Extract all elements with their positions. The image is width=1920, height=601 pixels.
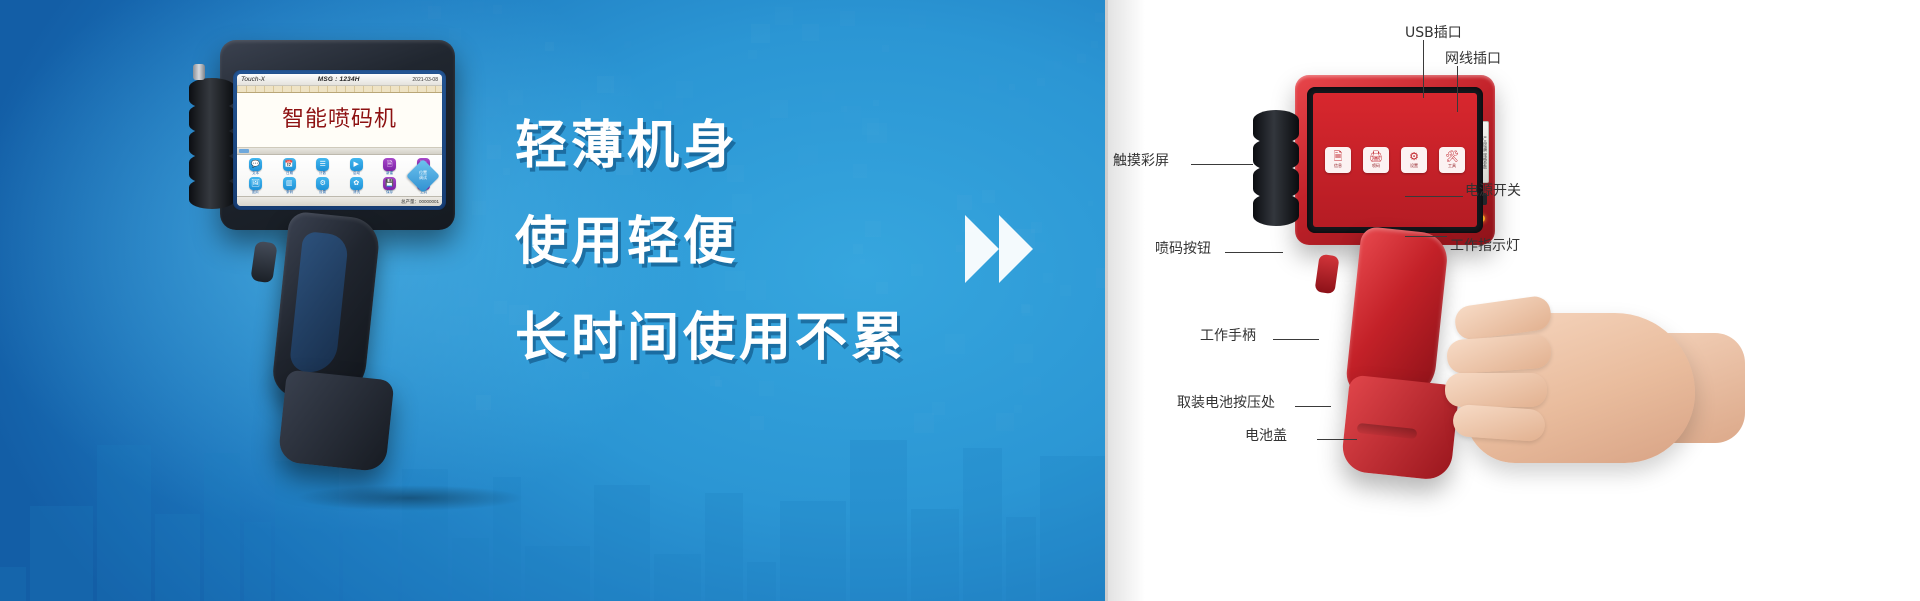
日期-icon[interactable]: 📅 bbox=[283, 158, 296, 171]
screen-icon-label: 设置 bbox=[319, 190, 326, 195]
screen-message-label: MSG : 1234H bbox=[318, 76, 360, 83]
screen-tile-label: 工具 bbox=[1448, 164, 1456, 168]
图片-icon[interactable]: 🖼 bbox=[249, 177, 262, 190]
nozzle-bellows bbox=[189, 78, 235, 203]
清洗-icon[interactable]: ✿ bbox=[350, 177, 363, 190]
screen-icon-label: 日期 bbox=[286, 171, 293, 176]
headline-group: 轻薄机身 使用轻便 长时间使用不累 bbox=[515, 120, 995, 364]
device-screen: Touch-X MSG : 1234H 2021-03-08 智能喷码机 💬文本… bbox=[237, 74, 442, 206]
callout-battery-release: 取装电池按压处 bbox=[1177, 392, 1275, 412]
screen-tabbar bbox=[237, 148, 442, 155]
screen-tile-信息[interactable]: 🗎信息 bbox=[1325, 147, 1351, 173]
screen-icon-label: 清洗 bbox=[353, 190, 360, 195]
screen-canvas-text: 智能喷码机 bbox=[282, 109, 397, 131]
callout-usb-port: USB插口 bbox=[1405, 22, 1462, 42]
device-left-black-printer: Touch-X MSG : 1234H 2021-03-08 智能喷码机 💬文本… bbox=[175, 30, 485, 470]
screen-icon-label: 图片 bbox=[252, 190, 259, 195]
screen-model-label: Touch-X bbox=[241, 76, 265, 83]
screen-icon-label: 计数 bbox=[319, 171, 326, 176]
leader-line-work-indicator-0 bbox=[1405, 236, 1447, 237]
计数-icon[interactable]: ☰ bbox=[316, 158, 329, 171]
headline-2: 使用轻便 bbox=[515, 216, 995, 268]
bolt-icon bbox=[193, 64, 205, 80]
finger-3 bbox=[1445, 373, 1547, 407]
finger-4 bbox=[1452, 404, 1546, 442]
screen-icon-label: 启动 bbox=[353, 171, 360, 176]
callout-network-port: 网线插口 bbox=[1445, 48, 1501, 68]
screen-icon-1-4[interactable]: 💾保存 bbox=[373, 177, 407, 197]
nozzle-bellows bbox=[1253, 110, 1299, 220]
screen-icon-grid: 💬文本📅日期☰计数▶启动🗎新建🗀饱和🖼图片▥条码⚙设置✿清洗💾保存🛠工具 位置调… bbox=[237, 155, 442, 196]
保存-icon[interactable]: 💾 bbox=[383, 177, 396, 190]
screen-datetime-label: 2021-03-08 bbox=[412, 77, 438, 83]
screen-tile-label: 喷码 bbox=[1372, 164, 1380, 168]
left-promo-panel: Touch-X MSG : 1234H 2021-03-08 智能喷码机 💬文本… bbox=[0, 0, 1105, 601]
leader-line-battery-cover-0 bbox=[1317, 439, 1357, 440]
设置-icon[interactable]: ⚙ bbox=[316, 177, 329, 190]
callout-work-indicator: 工作指示灯 bbox=[1450, 235, 1520, 255]
leader-line-network-port-0 bbox=[1457, 66, 1458, 112]
screen-canvas: 智能喷码机 bbox=[237, 93, 442, 148]
device-shadow bbox=[295, 485, 525, 511]
条码-icon[interactable]: ▥ bbox=[283, 177, 296, 190]
文本-icon[interactable]: 💬 bbox=[249, 158, 262, 171]
headline-1: 轻薄机身 bbox=[515, 120, 995, 172]
finger-2 bbox=[1446, 333, 1552, 374]
screen-icon-0-3[interactable]: ▶启动 bbox=[340, 157, 374, 177]
启动-icon[interactable]: ▶ bbox=[350, 158, 363, 171]
panel-divider bbox=[1105, 0, 1108, 601]
callout-print-button: 喷码按钮 bbox=[1155, 238, 1211, 258]
navigation-pad-icon[interactable]: 位置调试 bbox=[408, 161, 438, 191]
navigation-pad-label: 位置调试 bbox=[408, 161, 438, 191]
screen-icon-1-3[interactable]: ✿清洗 bbox=[340, 177, 374, 197]
screen-icon-1-2[interactable]: ⚙设置 bbox=[306, 177, 340, 197]
screen-footer-counter: 总产量：00000001 bbox=[237, 196, 442, 206]
tile-row: 🗎信息🖨喷码⚙设置🛠工具 bbox=[1319, 147, 1471, 173]
callout-battery-cover: 电池盖 bbox=[1245, 425, 1287, 445]
screen-icon-1-0[interactable]: 🖼图片 bbox=[239, 177, 273, 197]
device-handle bbox=[270, 215, 390, 470]
screen-icon-label: 保存 bbox=[386, 190, 393, 195]
screen-tile-label: 信息 bbox=[1334, 164, 1342, 168]
screen-icon-0-2[interactable]: ☰计数 bbox=[306, 157, 340, 177]
screen-tile-工具[interactable]: 🛠工具 bbox=[1439, 147, 1465, 173]
device-right-red-printer: 产品铭牌 规格参数 🗎信息🖨喷码⚙设置🛠工具 bbox=[1195, 55, 1615, 485]
screen-ruler bbox=[237, 86, 442, 93]
callout-work-handle: 工作手柄 bbox=[1200, 325, 1256, 345]
screen-icon-1-1[interactable]: ▥条码 bbox=[273, 177, 307, 197]
headline-3: 长时间使用不累 bbox=[515, 312, 995, 364]
新建-icon[interactable]: 🗎 bbox=[383, 158, 396, 171]
callout-power-switch: 电源开关 bbox=[1465, 180, 1521, 200]
screen-icon-label: 条码 bbox=[286, 190, 293, 195]
screen-icon-0-4[interactable]: 🗎新建 bbox=[373, 157, 407, 177]
leader-line-usb-port-0 bbox=[1423, 40, 1424, 98]
screen-icon-label: 文本 bbox=[252, 171, 259, 176]
leader-line-touch-screen-0 bbox=[1191, 164, 1253, 165]
leader-line-power-switch-0 bbox=[1405, 196, 1463, 197]
screen-icon-label: 新建 bbox=[386, 171, 393, 176]
hand-holding-device bbox=[1425, 293, 1725, 493]
callout-touch-screen: 触摸彩屏 bbox=[1113, 150, 1169, 170]
screen-icon-0-0[interactable]: 💬文本 bbox=[239, 157, 273, 177]
screen-tile-喷码[interactable]: 🖨喷码 bbox=[1363, 147, 1389, 173]
banner-stage: Touch-X MSG : 1234H 2021-03-08 智能喷码机 💬文本… bbox=[0, 0, 1920, 601]
leader-line-work-handle-0 bbox=[1273, 339, 1319, 340]
double-chevron-right-icon bbox=[965, 215, 1075, 285]
screen-tile-设置[interactable]: ⚙设置 bbox=[1401, 147, 1427, 173]
leader-line-battery-release-0 bbox=[1295, 406, 1331, 407]
screen-status-bar: Touch-X MSG : 1234H 2021-03-08 bbox=[237, 74, 442, 86]
device-screen: 🗎信息🖨喷码⚙设置🛠工具 bbox=[1313, 93, 1477, 227]
screen-icon-0-1[interactable]: 📅日期 bbox=[273, 157, 307, 177]
right-diagram-panel: 产品铭牌 规格参数 🗎信息🖨喷码⚙设置🛠工具 USB插口网线插口电源开关工作指示… bbox=[1105, 0, 1920, 601]
screen-tile-label: 设置 bbox=[1410, 164, 1418, 168]
leader-line-print-button-0 bbox=[1225, 252, 1283, 253]
